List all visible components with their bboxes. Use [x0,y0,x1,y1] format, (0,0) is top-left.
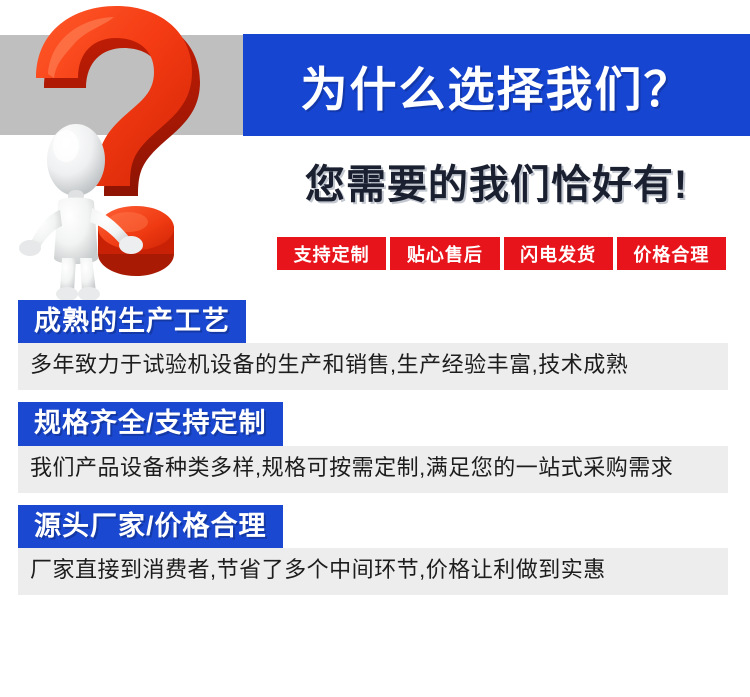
features-list: 成熟的生产工艺 多年致力于试验机设备的生产和销售,生产经验丰富,技术成熟 规格齐… [0,300,750,607]
feature-heading-production: 成熟的生产工艺 [18,300,246,343]
question-mark-dot-icon [98,206,174,276]
page-title: 为什么选择我们？ [243,34,750,136]
feature-heading-factory: 源头厂家/价格合理 [18,505,283,548]
feature-body-production: 多年致力于试验机设备的生产和销售,生产经验丰富,技术成熟 [18,343,728,390]
badge-after-sales[interactable]: 贴心售后 [391,238,498,269]
hero-section: 为什么选择我们？ 您需要的我们恰好有! 支持定制 贴心售后 闪电发货 价格合理 [0,0,750,300]
badge-custom-support[interactable]: 支持定制 [278,238,385,269]
feature-section-specs: 规格齐全/支持定制 我们产品设备种类多样,规格可按需定制,满足您的一站式采购需求 [0,402,750,492]
feature-heading-specs: 规格齐全/支持定制 [18,402,283,445]
gray-band-decoration [0,35,243,135]
feature-body-text: 厂家直接到消费者,节省了多个中间环节,价格让利做到实惠 [30,551,716,589]
feature-body-text: 我们产品设备种类多样,规格可按需定制,满足您的一站式采购需求 [30,449,716,487]
hero-subtitle: 您需要的我们恰好有! [255,152,738,210]
promo-page: 为什么选择我们？ 您需要的我们恰好有! 支持定制 贴心售后 闪电发货 价格合理 [0,0,750,697]
feature-section-factory: 源头厂家/价格合理 厂家直接到消费者,节省了多个中间环节,价格让利做到实惠 [0,505,750,595]
feature-badge-row: 支持定制 贴心售后 闪电发货 价格合理 [278,238,725,269]
feature-body-factory: 厂家直接到消费者,节省了多个中间环节,价格让利做到实惠 [18,548,728,595]
mascot-figure-icon [19,124,143,300]
badge-fair-price[interactable]: 价格合理 [618,238,725,269]
feature-body-text: 多年致力于试验机设备的生产和销售,生产经验丰富,技术成熟 [30,346,716,384]
feature-body-specs: 我们产品设备种类多样,规格可按需定制,满足您的一站式采购需求 [18,446,728,493]
feature-section-production: 成熟的生产工艺 多年致力于试验机设备的生产和销售,生产经验丰富,技术成熟 [0,300,750,390]
badge-fast-shipping[interactable]: 闪电发货 [505,238,612,269]
